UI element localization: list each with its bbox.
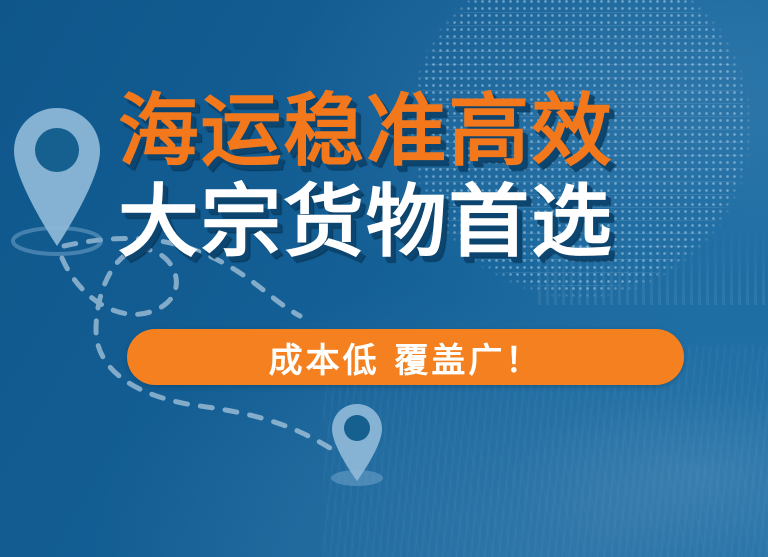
headline-block: 海运稳准高效 大宗货物首选 bbox=[118, 92, 703, 262]
dashed-route-path bbox=[0, 0, 768, 557]
headline-line-1: 海运稳准高效 bbox=[118, 92, 715, 171]
tagline-text: 成本低 覆盖广！ bbox=[269, 333, 543, 382]
headline-line-2: 大宗货物首选 bbox=[118, 183, 715, 262]
shipping-promo-banner: 海运稳准高效 大宗货物首选 成本低 覆盖广！ bbox=[0, 0, 768, 557]
map-pin-icon bbox=[13, 108, 101, 254]
tagline-pill: 成本低 覆盖广！ bbox=[127, 329, 684, 385]
map-pin-icon bbox=[331, 404, 383, 486]
